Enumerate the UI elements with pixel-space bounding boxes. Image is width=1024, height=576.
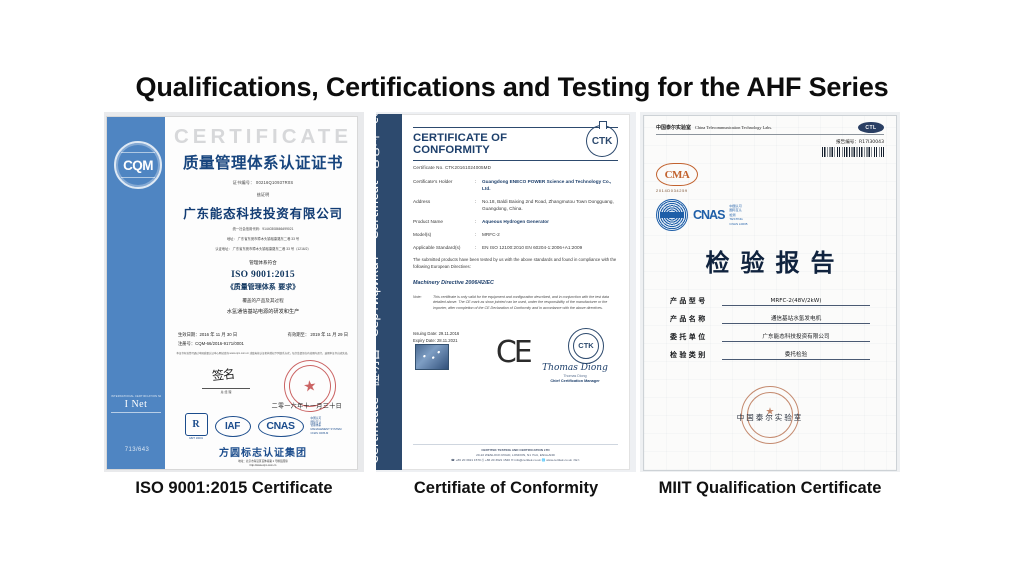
ctk-seal-icon: CTK bbox=[568, 328, 604, 364]
certificate-gallery: CQM INTERNATIONAL CERTIFICATION NETWORK … bbox=[0, 112, 1024, 472]
issuing-date: Issuing Date: 29.11.2016 bbox=[413, 330, 459, 337]
iso-standard: ISO 9001:2015 bbox=[174, 270, 352, 280]
conformity-statement: The submitted products have been tested … bbox=[413, 257, 618, 270]
iso-side-band: CQM INTERNATIONAL CERTIFICATION NETWORK … bbox=[107, 117, 165, 469]
conformity-mid-rule bbox=[413, 160, 618, 161]
conformity-band-text: Certificate –證明書– Сертификат – Certifica… bbox=[376, 114, 382, 464]
inet-main-text: I Net bbox=[111, 399, 161, 410]
footer-contact: ☎ +86 20 3921 1570 ⎙ +86 20 3921 1540 ✉ … bbox=[413, 458, 618, 463]
iso-address-line-2: 地址： 广东省东莞市樟木头镇裕康路东二巷 33 号 bbox=[174, 237, 352, 242]
miit-field-row: 产品名称 通信基站水氢发电机 bbox=[670, 314, 870, 324]
field-key: Address bbox=[413, 198, 475, 212]
cma-logo-icon: CMA bbox=[656, 163, 698, 186]
iso-issuer-address: 地址：北京市海淀区首体南路 1 号枫蓝国际 bbox=[174, 460, 352, 464]
iso-chinese-date: 二零一六年十一月三十日 bbox=[272, 401, 342, 410]
iso-certificate-number: 证书编号： 00216Q10937R0S bbox=[174, 180, 352, 186]
field-colon: : bbox=[475, 218, 482, 225]
miit-field-row: 检验类别 委托检验 bbox=[670, 350, 870, 360]
conformity-field-row: Model(s) : MRFC-2 bbox=[413, 231, 618, 238]
miit-lab-name-cn: 中国泰尔实验室 bbox=[656, 124, 691, 131]
field-colon: : bbox=[475, 178, 482, 192]
certificate-frame-3: 中国泰尔实验室 China Telecommunication Technolo… bbox=[640, 112, 900, 472]
iso-issue-date: 生效日期：2016 年 11 月 30 日 bbox=[178, 332, 237, 338]
conformity-field-list: Certificate's Holder : Guangdong ENECO P… bbox=[413, 178, 618, 251]
miit-report-page: 中国泰尔实验室 China Telecommunication Technolo… bbox=[643, 115, 897, 471]
field-key: 产品型号 bbox=[670, 296, 722, 306]
field-value: MRFC-2 bbox=[482, 231, 618, 238]
ce-mark-icon: CE bbox=[496, 338, 530, 368]
conformity-side-band: Certificate –證明書– Сертификат – Certifica… bbox=[376, 114, 402, 470]
caption-iso9001: ISO 9001:2015 Certificate bbox=[104, 479, 364, 498]
field-value: No.18, Baldi Baixing 2nd Road, Zhangmuto… bbox=[482, 198, 618, 212]
iso-signature-caption: 总 经 理 bbox=[202, 390, 250, 394]
miit-header-rule bbox=[656, 134, 884, 135]
certificate-frame-1: CQM INTERNATIONAL CERTIFICATION NETWORK … bbox=[104, 112, 364, 472]
miit-field-row: 产品型号 MRFC-2(48V/2kW) bbox=[670, 296, 870, 306]
miit-field-row: 委托单位 广东能态科技投资有限公司 bbox=[670, 332, 870, 342]
iso-address-line-1: 统一社会信用代码：91440308666499021 bbox=[174, 227, 352, 232]
miit-accreditation-logos: CNAS 中国认可 国际互认 检测 TESTING CNAS L0035 bbox=[656, 199, 884, 231]
signature-printed-name: Thomas Diong bbox=[532, 374, 618, 378]
conformity-note: Note: This certificate is only valid for… bbox=[413, 295, 618, 312]
iso-standard-chinese: 《质量管理体系 要求》 bbox=[174, 282, 352, 292]
miit-report-number: 报告编号：R17I30043 bbox=[656, 139, 884, 145]
gbt-standard-label: GB/T 19001 bbox=[185, 437, 208, 440]
conformity-field-row: Certificate's Holder : Guangdong ENECO P… bbox=[413, 178, 618, 192]
iso-conformity-label: 管理体系符合 bbox=[174, 260, 352, 266]
hologram-icon bbox=[415, 344, 449, 370]
note-label: Note: bbox=[413, 295, 433, 312]
field-value: 通信基站水氢发电机 bbox=[722, 314, 870, 324]
conformity-directive: Machinery Directive 2006/42/EC bbox=[413, 280, 618, 286]
miit-stamp-lab-name: 中国泰尔实验室 bbox=[737, 412, 804, 423]
conformity-footer: CERTITEK TESTING AND CERTIFICATION LTD 2… bbox=[413, 444, 618, 463]
caption-conformity: Certifiate of Conformity bbox=[376, 479, 636, 498]
iso-scope-label: 覆盖的产品及其过程 bbox=[174, 298, 352, 304]
field-key: 委托单位 bbox=[670, 332, 722, 342]
iso-registration-number: 注册号：CQM-66/2016-9171/0001 bbox=[174, 341, 352, 347]
conformity-certificate-page: Certificate –證明書– Сертификат – Certifica… bbox=[376, 114, 630, 470]
field-colon: : bbox=[475, 231, 482, 238]
field-key: 检验类别 bbox=[670, 350, 722, 360]
caption-miit: MIIT Qualification Certificate bbox=[640, 479, 900, 498]
cnas-line-4: MANAGEMENT SYSTEM bbox=[311, 428, 342, 432]
field-key: Certificate's Holder bbox=[413, 178, 475, 192]
field-key: Product Name bbox=[413, 218, 475, 225]
conformity-body: CERTIFICATE OF CONFORMITY CTK Certificat… bbox=[402, 114, 630, 470]
note-text: This certificate is only valid for the e… bbox=[433, 295, 618, 312]
cnas-logo: CNAS bbox=[258, 416, 304, 437]
field-key: 产品名称 bbox=[670, 314, 722, 324]
conformity-header: CERTIFICATE OF CONFORMITY CTK bbox=[413, 132, 618, 157]
miit-report-title: 检验报告 bbox=[656, 243, 884, 278]
field-value: Guangdong ENECO POWER Science and Techno… bbox=[482, 178, 618, 192]
iso-award-label: 兹证明 bbox=[174, 192, 352, 198]
ctk-badge-icon: CTK bbox=[586, 125, 618, 157]
iso-address-line-3: 认证地址： 广东省东莞市樟木头镇裕康路东二巷 33 号（1216/2） bbox=[174, 247, 352, 252]
iso-serial-number: 713/643 bbox=[113, 447, 161, 453]
miit-report-body: 中国泰尔实验室 China Telecommunication Technolo… bbox=[644, 116, 896, 470]
cnab-logo-icon bbox=[656, 199, 688, 231]
conformity-certificate-number: Certificate No. CTK20161024005MD bbox=[413, 165, 618, 170]
field-colon: : bbox=[475, 244, 482, 251]
iso-signature-rule bbox=[202, 388, 250, 389]
barcode-icon bbox=[822, 147, 884, 157]
cma-number: 2014D034259 bbox=[656, 188, 884, 193]
field-value: MRFC-2(48V/2kW) bbox=[722, 298, 870, 306]
field-value: 广东能态科技投资有限公司 bbox=[722, 332, 870, 342]
iso-scope-text: 水氢通信基站电源的研发和生产 bbox=[174, 308, 352, 315]
conformity-field-row: Product Name : Aqueous Hydrogen Generato… bbox=[413, 218, 618, 225]
inet-rule bbox=[111, 412, 161, 413]
ctl-logo-icon: CTL bbox=[858, 122, 884, 133]
field-value: EN ISO 12100:2010 EN 60204-1:2006+A1:200… bbox=[482, 244, 618, 251]
cnas-logo-icon: CNAS bbox=[693, 208, 724, 222]
conformity-title: CERTIFICATE OF CONFORMITY bbox=[413, 132, 586, 156]
iso-accreditation-logos: R GB/T 19001 IAF CNAS 中国认可 国际互认 管理体系 MAN… bbox=[174, 413, 352, 440]
cnas-description: 中国认可 国际互认 管理体系 MANAGEMENT SYSTEM CNAS C0… bbox=[311, 417, 342, 435]
cnas-line-5: CNAS C005-M bbox=[311, 432, 342, 436]
conformity-top-rule bbox=[413, 127, 618, 128]
iso-chinese-title: 质量管理体系认证证书 bbox=[174, 151, 352, 173]
page-title: Qualifications, Certifications and Testi… bbox=[0, 72, 1024, 103]
field-value: 委托检验 bbox=[722, 350, 870, 360]
iso-company-name: 广东能态科技投资有限公司 bbox=[174, 203, 352, 222]
conformity-dates: Issuing Date: 29.11.2016 Expiry Date: 28… bbox=[413, 330, 459, 344]
conformity-field-row: Address : No.18, Baldi Baixing 2nd Road,… bbox=[413, 198, 618, 212]
conformity-field-row: Applicable Standard(s) : EN ISO 12100:20… bbox=[413, 244, 618, 251]
miit-field-list: 产品型号 MRFC-2(48V/2kW) 产品名称 通信基站水氢发电机 委托单位… bbox=[656, 296, 884, 360]
iso-signature-row: 签名 总 经 理 ★ 二零一六年十一月三十日 bbox=[174, 360, 352, 412]
iso-signature: 签名 bbox=[211, 364, 235, 383]
conformity-signature-block: Thomas Diong Thomas Diong Chief Certific… bbox=[532, 363, 618, 383]
cqm-logo: CQM bbox=[114, 141, 162, 189]
miit-header: 中国泰尔实验室 China Telecommunication Technolo… bbox=[656, 124, 884, 131]
field-key: Applicable Standard(s) bbox=[413, 244, 475, 251]
field-value: Aqueous Hydrogen Generator bbox=[482, 218, 618, 225]
iso-issuer-website: http://www.cqm.com.cn bbox=[174, 464, 352, 468]
iso-issuer-name: 方圆标志认证集团 bbox=[174, 444, 352, 459]
conformity-signature-area: Issuing Date: 29.11.2016 Expiry Date: 28… bbox=[413, 330, 618, 392]
iaf-logo: IAF bbox=[215, 416, 251, 437]
certificate-image-miit[interactable]: 中国泰尔实验室 China Telecommunication Technolo… bbox=[640, 112, 900, 472]
certificate-frame-2: Certificate –證明書– Сертификат – Certifica… bbox=[376, 112, 636, 472]
iso-date-row: 生效日期：2016 年 11 月 30 日 有效期至： 2019 年 11 月 … bbox=[174, 332, 352, 338]
iso-footnote: 本证书有效性可通过中国质量认证中心网站查询 www.cqm.com.cn 或致电… bbox=[174, 352, 352, 356]
field-key: Model(s) bbox=[413, 231, 475, 238]
iso-certificate-body: CERTIFICATE 质量管理体系认证证书 证书编号： 00216Q10937… bbox=[165, 117, 361, 469]
field-colon: : bbox=[475, 198, 482, 212]
signature-name: Thomas Diong bbox=[532, 363, 618, 373]
miit-lab-name-en: China Telecommunication Technology Labs. bbox=[695, 125, 772, 130]
r-mark-icon: R bbox=[185, 413, 208, 436]
cnas-accreditation-text: 中国认可 国际互认 检测 TESTING CNAS L0035 bbox=[729, 204, 747, 226]
seal-inner-ring bbox=[573, 333, 599, 359]
inet-logo: INTERNATIONAL CERTIFICATION NETWORK I Ne… bbox=[111, 395, 161, 413]
certificate-watermark: CERTIFICATE bbox=[174, 127, 352, 148]
miit-stamp-area: ★ 中国泰尔实验室 bbox=[656, 386, 884, 450]
inet-top-text: INTERNATIONAL CERTIFICATION NETWORK bbox=[111, 395, 161, 398]
certificate-image-iso9001[interactable]: CQM INTERNATIONAL CERTIFICATION NETWORK … bbox=[104, 112, 364, 472]
certificate-image-conformity[interactable]: Certificate –證明書– Сертификат – Certifica… bbox=[376, 112, 636, 472]
r-mark-group: R GB/T 19001 bbox=[185, 413, 208, 440]
iso-certificate-page: CQM INTERNATIONAL CERTIFICATION NETWORK … bbox=[106, 116, 358, 470]
signature-role: Chief Certification Manager bbox=[532, 379, 618, 383]
cnas-line-5: CNAS L0035 bbox=[729, 222, 747, 226]
iso-expiry-date: 有效期至： 2019 年 11 月 29 日 bbox=[288, 332, 348, 338]
